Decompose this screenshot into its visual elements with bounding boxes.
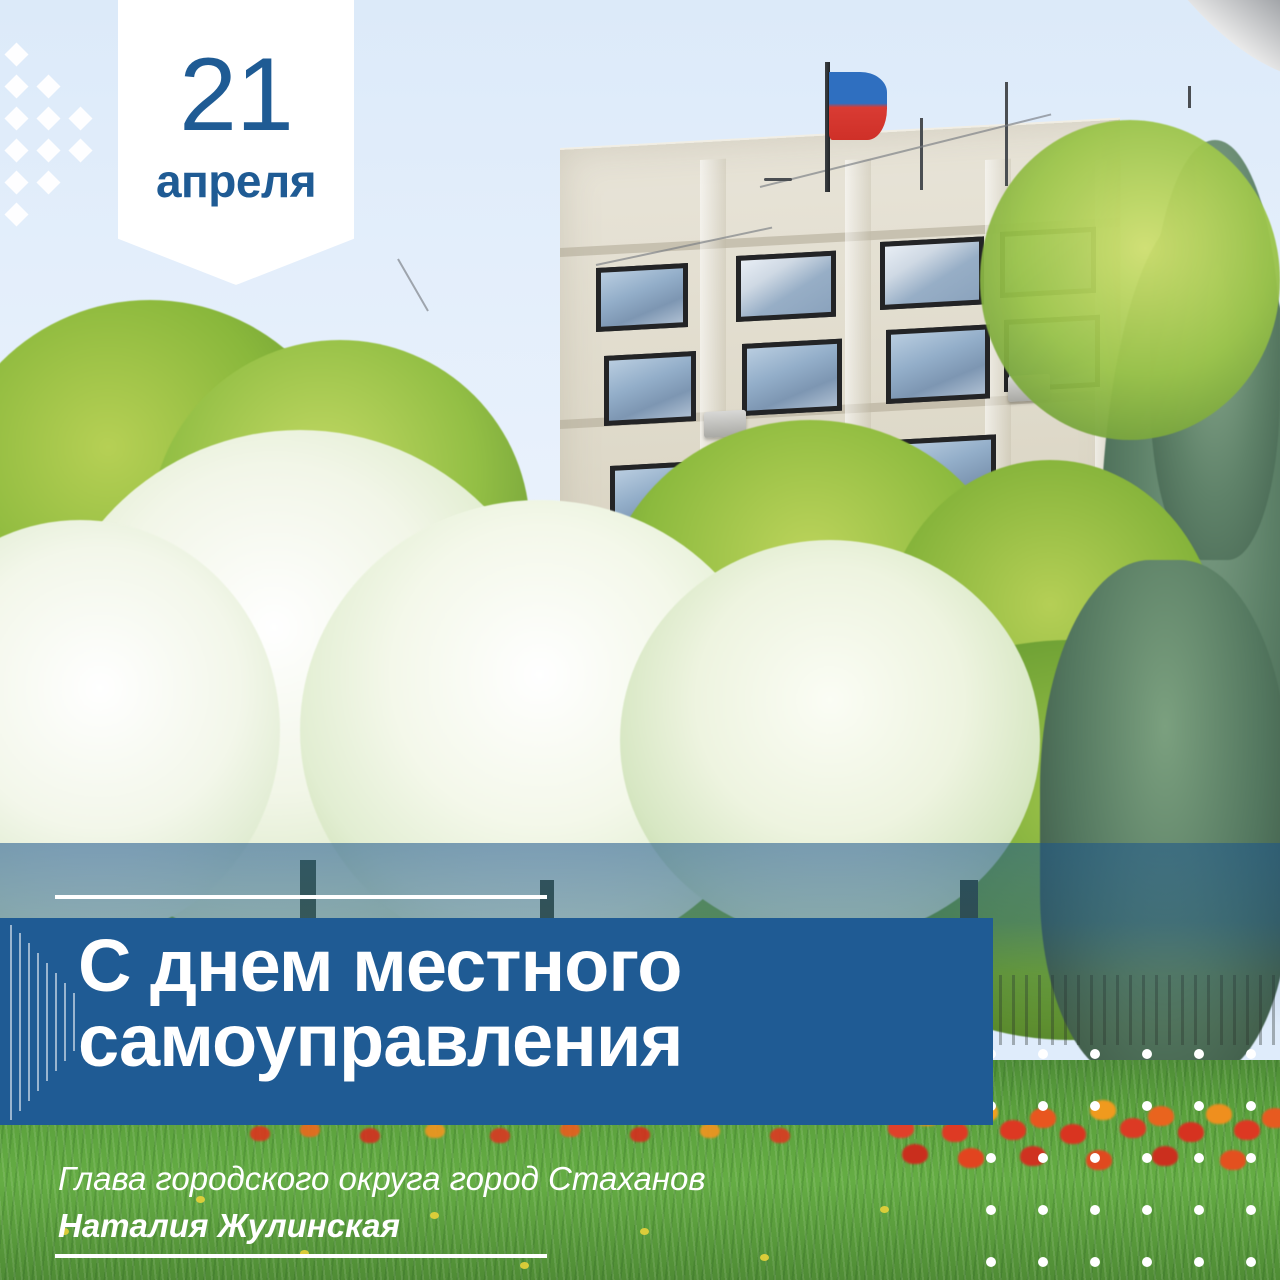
- dot-decor: [1194, 1205, 1204, 1215]
- divider-rule-bottom: [55, 1254, 547, 1258]
- dot-decor: [1090, 1257, 1100, 1267]
- dot-decor: [1142, 1205, 1152, 1215]
- divider-rule-top: [55, 895, 547, 899]
- flag: [829, 72, 887, 140]
- caption-block: Глава городского округа город Стаханов Н…: [58, 1160, 958, 1246]
- dot-decor: [1246, 1153, 1256, 1163]
- headline-line-1: С днем местного: [78, 928, 978, 1003]
- antenna: [1188, 86, 1191, 108]
- date-badge-month: апреля: [156, 158, 316, 204]
- dot-grid-decor: [980, 1045, 1280, 1280]
- tree: [980, 120, 1280, 440]
- lamp-arm: [764, 178, 792, 181]
- building-window: [742, 339, 842, 416]
- building-window: [596, 263, 688, 332]
- dot-decor: [1090, 1101, 1100, 1111]
- dot-decor: [1038, 1205, 1048, 1215]
- date-badge-day: 21: [179, 48, 293, 144]
- date-badge: 21 апреля: [118, 0, 354, 285]
- line-fan-decor: [8, 925, 78, 1120]
- dot-decor: [1194, 1049, 1204, 1059]
- dot-decor: [1090, 1049, 1100, 1059]
- headline-line-2: самоуправления: [78, 1003, 978, 1078]
- antenna: [1005, 82, 1008, 186]
- dot-decor: [1142, 1257, 1152, 1267]
- dot-decor: [1142, 1049, 1152, 1059]
- building-window: [886, 324, 990, 404]
- dot-decor: [1142, 1101, 1152, 1111]
- building-window: [736, 251, 836, 322]
- dot-decor: [1194, 1257, 1204, 1267]
- dot-decor: [1246, 1101, 1256, 1111]
- dot-decor: [1246, 1257, 1256, 1267]
- dot-decor: [1246, 1049, 1256, 1059]
- dot-decor: [1090, 1153, 1100, 1163]
- dot-decor: [1142, 1153, 1152, 1163]
- dot-decor: [1038, 1101, 1048, 1111]
- building-window: [604, 351, 696, 426]
- dot-decor: [1038, 1257, 1048, 1267]
- dot-decor: [1246, 1205, 1256, 1215]
- dot-decor: [1194, 1153, 1204, 1163]
- dot-decor: [1090, 1205, 1100, 1215]
- caption-name: Наталия Жулинская: [58, 1207, 958, 1246]
- dot-decor: [986, 1257, 996, 1267]
- dot-decor: [1038, 1153, 1048, 1163]
- dot-decor: [1038, 1049, 1048, 1059]
- antenna: [920, 118, 923, 190]
- headline: С днем местного самоуправления: [78, 928, 978, 1079]
- caption-title: Глава городского округа город Стаханов: [58, 1160, 958, 1199]
- dot-decor: [1194, 1101, 1204, 1111]
- dot-decor: [986, 1153, 996, 1163]
- building-window: [880, 236, 984, 310]
- dot-decor: [986, 1205, 996, 1215]
- poster-canvas: С днем местного самоуправления Глава гор…: [0, 0, 1280, 1280]
